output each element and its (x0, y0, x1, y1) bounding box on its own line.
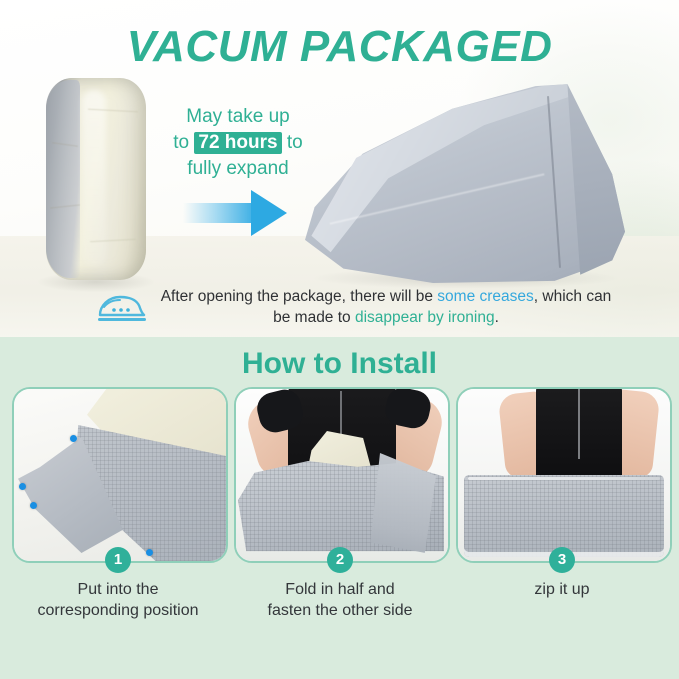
ironing-note-part1: After opening the package, there will be (161, 288, 438, 305)
hours-highlight: 72 hours (194, 132, 281, 154)
step-badge-1: 1 (105, 547, 131, 573)
page-title: VACUM PACKAGED (0, 22, 679, 72)
product-infographic: VACUM PACKAGED May take up to 72 hours t… (0, 0, 679, 679)
step-1-caption-line2: corresponding position (38, 602, 199, 619)
marker-dot (19, 483, 26, 490)
expand-note-prefix: to (173, 132, 194, 153)
step-badge-2: 2 (327, 547, 353, 573)
ironing-note-part5: . (495, 309, 499, 326)
jacket-zipper (578, 389, 580, 459)
step-card-2 (234, 387, 450, 563)
step-card-3 (456, 387, 672, 563)
ironing-note-disappear: disappear by ironing (355, 309, 495, 326)
cover-zipper-line (468, 477, 660, 480)
arrow-head (251, 190, 287, 236)
step-caption-2: Fold in half and fasten the other side (215, 579, 465, 621)
step-2-caption-line2: fasten the other side (268, 602, 413, 619)
right-arrow-icon (183, 190, 287, 236)
expand-note-suffix: to (282, 132, 303, 153)
marker-dot (70, 435, 77, 442)
ironing-note-row: After opening the package, there will be… (0, 286, 679, 332)
iron-icon (92, 288, 150, 330)
expand-note-line3: fully expand (187, 158, 288, 179)
marker-dot (30, 502, 37, 509)
install-steps: 1 Put into the corresponding position (0, 387, 679, 679)
step-1-photo (14, 389, 226, 561)
step-1-caption-line1: Put into the (78, 581, 159, 598)
step-3-caption-line1: zip it up (534, 581, 589, 598)
expand-note-line1: May take up (186, 106, 290, 127)
step-2-caption-line1: Fold in half and (285, 581, 394, 598)
marker-dot (146, 549, 153, 556)
step-card-1 (12, 387, 228, 563)
expand-time-note: May take up to 72 hours to fully expand (160, 104, 316, 182)
folded-cover (464, 475, 664, 557)
ironing-note-creases: some creases (437, 288, 533, 305)
step-3-photo (458, 389, 670, 561)
arrow-shaft (183, 203, 255, 223)
step-badge-3: 3 (549, 547, 575, 573)
vacuum-packaged-section: VACUM PACKAGED May take up to 72 hours t… (0, 0, 679, 337)
step-caption-3: zip it up (437, 579, 679, 600)
ironing-note-text: After opening the package, there will be… (160, 286, 612, 328)
step-2-photo (236, 389, 448, 561)
install-heading: How to Install (0, 345, 679, 383)
step-caption-1: Put into the corresponding position (0, 579, 243, 621)
pack-gray-cover-edge (46, 80, 80, 278)
how-to-install-section: How to Install 1 Put into the corresp (0, 337, 679, 679)
vacuum-pack-image (36, 74, 156, 286)
wedge-pillow-image (305, 80, 625, 285)
